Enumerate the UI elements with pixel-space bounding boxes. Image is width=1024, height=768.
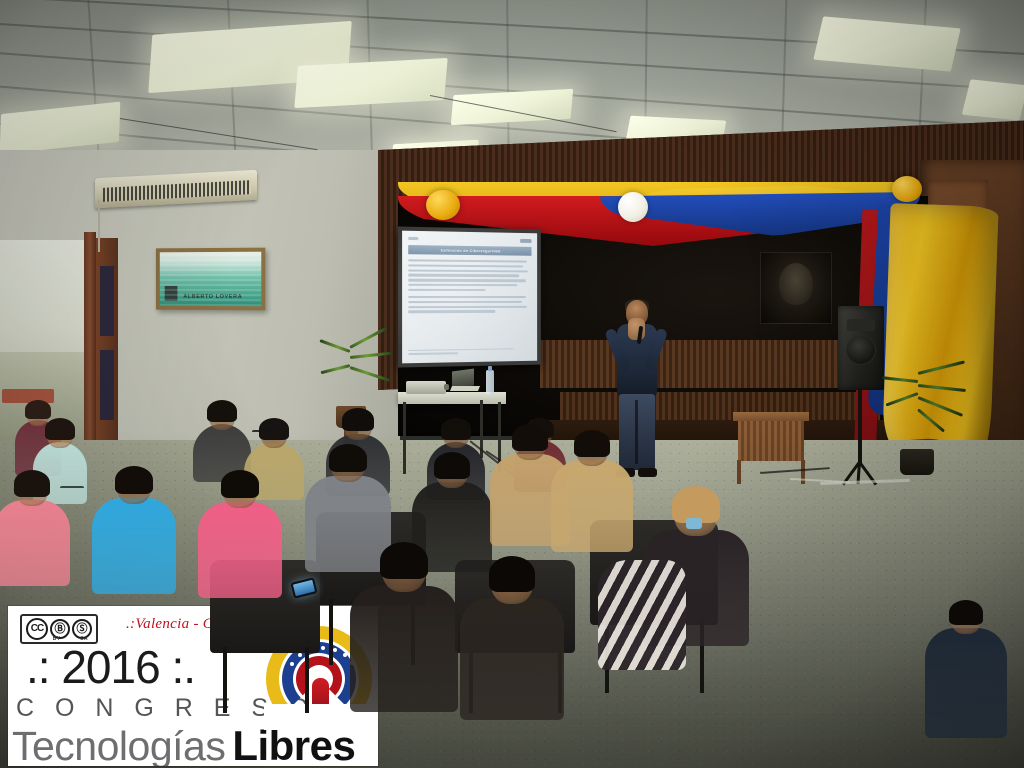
audience-torso <box>0 500 70 586</box>
audience-hair <box>45 418 75 440</box>
year-title: .: 2016 :. <box>26 640 195 694</box>
audience-hair <box>342 408 374 431</box>
striped-sweater-overlay <box>598 560 686 670</box>
audience-hair <box>207 400 237 422</box>
audience-torso <box>460 598 564 720</box>
audience-hair <box>329 444 367 472</box>
audience-torso <box>551 460 633 552</box>
hair-clip <box>686 518 702 529</box>
eyeglasses <box>252 430 276 435</box>
audience-hair <box>259 418 289 440</box>
chair-leg <box>305 647 309 713</box>
audience-hair <box>380 542 428 579</box>
audience-hair <box>434 452 470 479</box>
audience-torso <box>92 498 176 594</box>
audience-torso <box>925 628 1007 738</box>
audience-hair <box>25 400 51 419</box>
audience-hair <box>574 430 610 457</box>
audience-hair <box>949 600 983 625</box>
conference-photo: ALBERTO LOVERA Definición de Cibers <box>0 0 1024 768</box>
audience-hair <box>441 418 471 440</box>
audience-torso <box>305 476 391 572</box>
eyeglasses <box>60 486 84 491</box>
tecnologias-word: Tecnologías <box>12 723 225 766</box>
audience-torso <box>350 586 458 712</box>
audience-hair <box>14 470 50 497</box>
audience-torso <box>198 502 282 598</box>
chair-leg <box>223 647 227 713</box>
chair-leg <box>329 599 333 665</box>
audience-hair <box>221 470 259 498</box>
audience-hair <box>489 556 535 592</box>
audience-hair <box>115 466 153 494</box>
audience-hair <box>512 424 548 451</box>
